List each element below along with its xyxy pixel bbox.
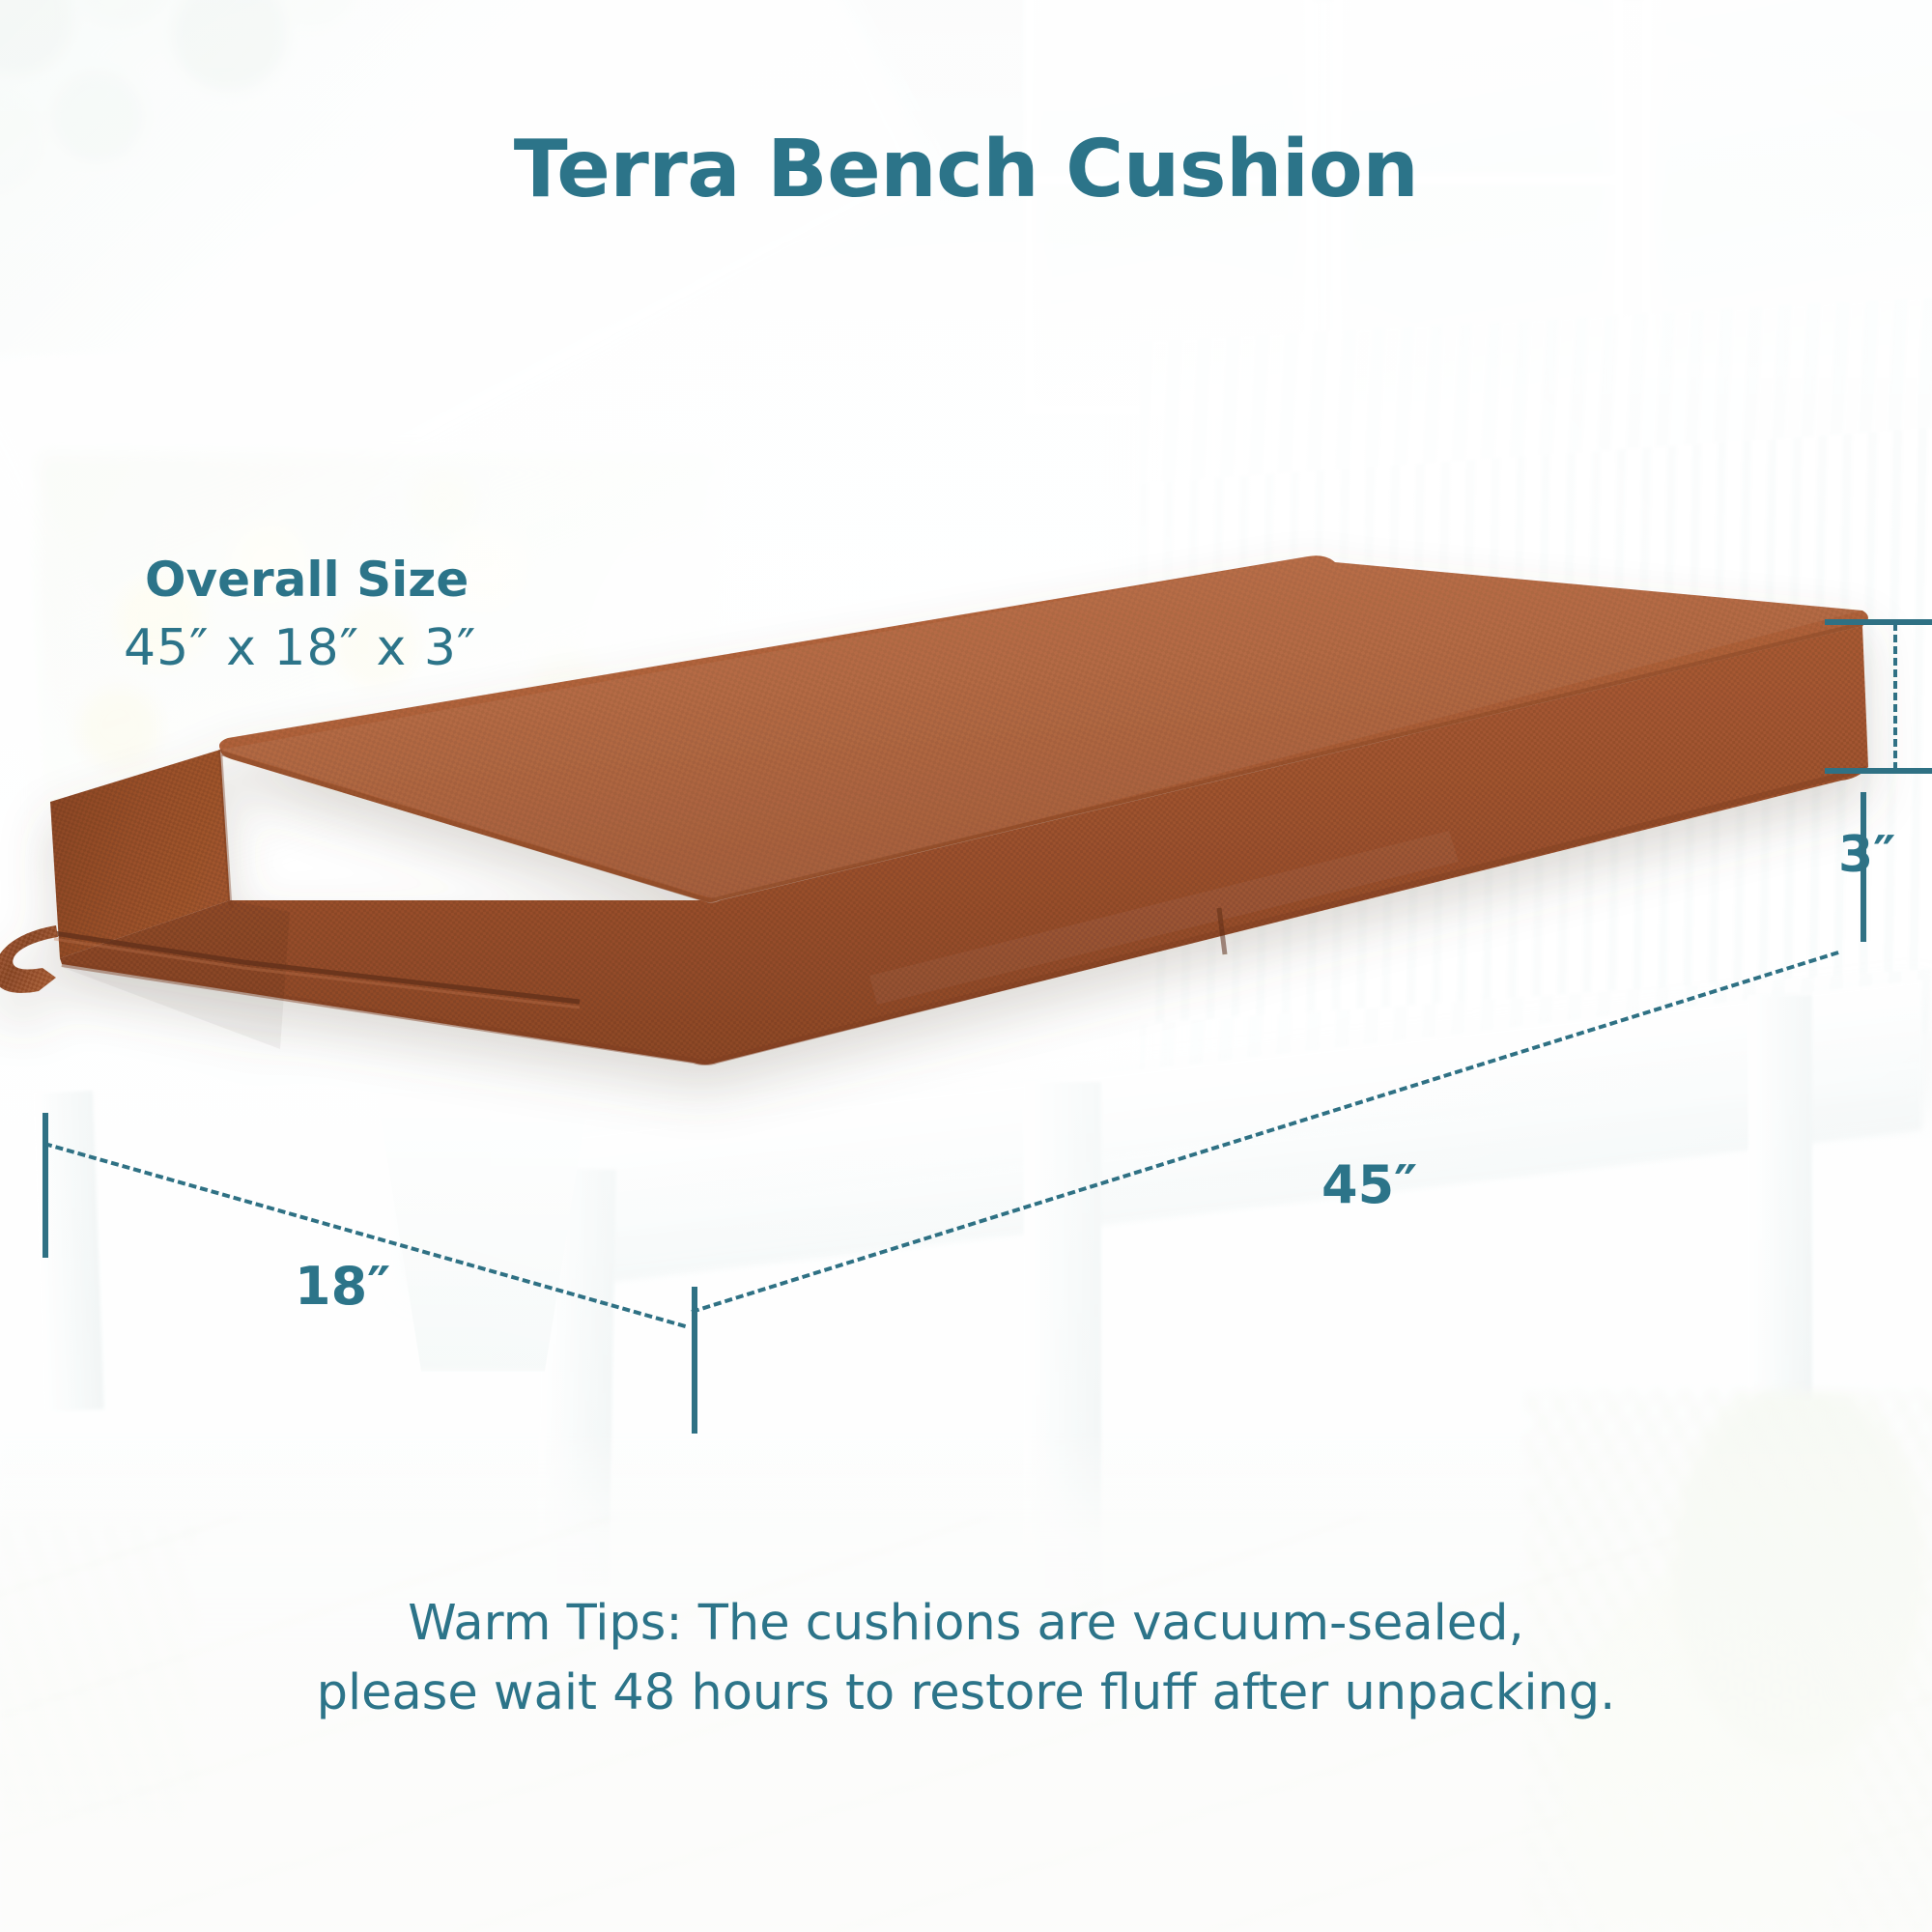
dimension-label-length: 45″ <box>1321 1154 1417 1215</box>
thickness-tick-top <box>1825 619 1932 625</box>
width-tick-near <box>43 1113 48 1258</box>
overall-size-label: Overall Size <box>145 555 476 604</box>
warm-tips-block: Warm Tips: The cushions are vacuum-seale… <box>0 1589 1932 1729</box>
length-tick-far <box>1861 792 1866 942</box>
warm-tips-line-1: Warm Tips: The cushions are vacuum-seale… <box>0 1589 1932 1659</box>
page-title: Terra Bench Cushion <box>0 124 1932 215</box>
thickness-measure-line <box>1893 623 1897 770</box>
dimension-label-thickness: 3″ <box>1838 826 1895 884</box>
thickness-tick-bottom <box>1825 768 1932 774</box>
overall-size-block: Overall Size 45″ x 18″ x 3″ <box>145 555 476 673</box>
infographic-canvas: Terra Bench Cushion Overall Size 45″ x 1… <box>0 0 1932 1932</box>
dimension-label-width: 18″ <box>295 1256 390 1317</box>
overall-size-value: 45″ x 18″ x 3″ <box>124 623 476 673</box>
width-tick-far <box>692 1287 697 1434</box>
warm-tips-line-2: please wait 48 hours to restore fluff af… <box>0 1659 1932 1728</box>
